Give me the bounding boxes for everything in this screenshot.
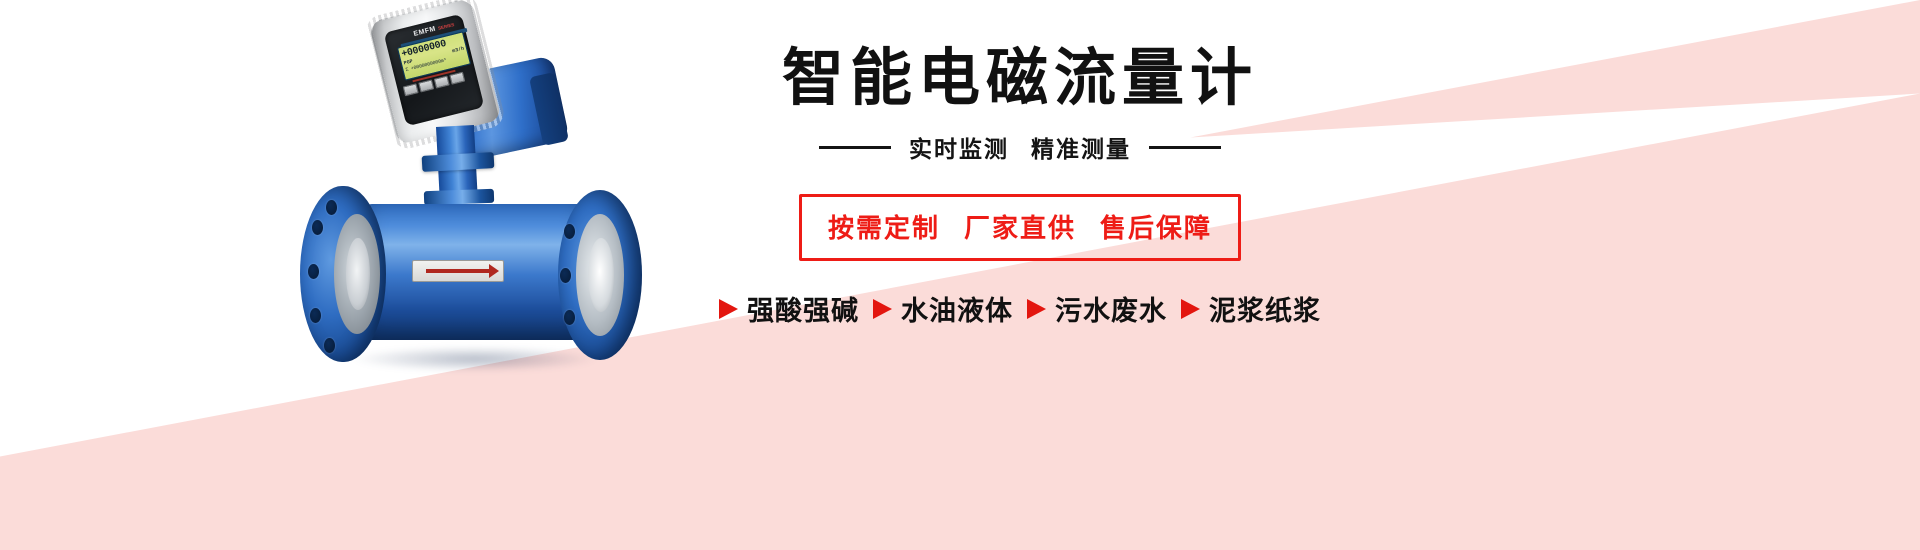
neck-flange-lower — [424, 189, 494, 205]
subtitle-part-2: 精准测量 — [1031, 137, 1131, 163]
promo-item-3: 售后保障 — [1100, 214, 1212, 244]
subtitle-part-1: 实时监测 — [909, 137, 1009, 163]
banner-subtitle: 实时监测精准测量 — [909, 130, 1131, 164]
feature-label: 泥浆纸浆 — [1209, 289, 1321, 328]
feature-label: 污水废水 — [1055, 289, 1167, 328]
flow-direction-plate — [412, 260, 504, 282]
neck-flange-upper — [422, 152, 495, 172]
feature-list: 强酸强碱 水油液体 污水废水 泥浆纸浆 — [660, 289, 1380, 328]
promo-item-2: 厂家直供 — [964, 214, 1076, 244]
triangle-right-icon — [1027, 299, 1046, 319]
flange-bolt-hole — [308, 264, 319, 279]
flange-bolt-hole — [326, 200, 337, 215]
flowmeter-product-image: EMFM SERIES +0000000 PGP m3/h Σ +0000000… — [290, 8, 710, 468]
product-shadow — [350, 346, 600, 372]
flange-bolt-hole — [324, 338, 335, 353]
feature-label: 水油液体 — [901, 289, 1013, 328]
feature-item-1: 强酸强碱 — [719, 289, 859, 328]
flow-direction-arrow-icon — [426, 269, 490, 273]
flange-left-bore — [346, 238, 370, 310]
triangle-right-icon — [873, 299, 892, 319]
promo-box: 按需定制厂家直供售后保障 — [799, 194, 1241, 261]
feature-label: 强酸强碱 — [747, 289, 859, 328]
triangle-right-icon — [719, 299, 738, 319]
product-banner: EMFM SERIES +0000000 PGP m3/h Σ +0000000… — [0, 0, 1920, 550]
flange-bolt-hole — [310, 308, 321, 323]
flange-right-bore — [588, 238, 614, 312]
feature-item-2: 水油液体 — [873, 289, 1013, 328]
flange-bolt-hole — [312, 220, 323, 235]
feature-item-3: 污水废水 — [1027, 289, 1167, 328]
promo-item-1: 按需定制 — [828, 214, 940, 244]
banner-title: 智能电磁流量计 — [660, 40, 1380, 116]
subtitle-rule-left — [819, 146, 891, 149]
subtitle-rule-right — [1149, 146, 1221, 149]
flange-bolt-hole — [560, 268, 571, 283]
flange-bolt-hole — [564, 310, 575, 325]
banner-copy: 智能电磁流量计 实时监测精准测量 按需定制厂家直供售后保障 强酸强碱 水油液体 … — [660, 40, 1380, 328]
flange-bolt-hole — [564, 224, 575, 239]
promo-text: 按需定制厂家直供售后保障 — [828, 214, 1212, 244]
banner-subtitle-row: 实时监测精准测量 — [660, 130, 1380, 164]
triangle-right-icon — [1181, 299, 1200, 319]
feature-item-4: 泥浆纸浆 — [1181, 289, 1321, 328]
